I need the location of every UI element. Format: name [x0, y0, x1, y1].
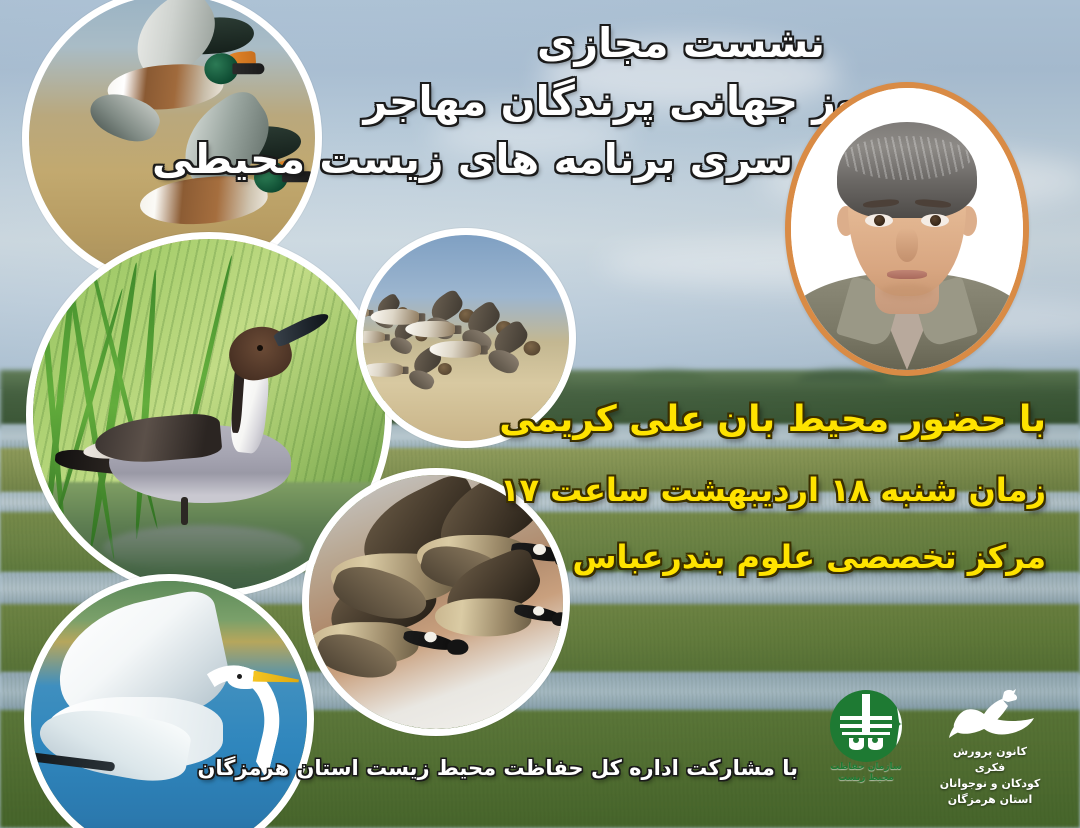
kanoon-logo-caption: کانون پرورش فکری کودکان و نوجوانان استان… [938, 744, 1042, 808]
photo-circle-egret [24, 574, 314, 828]
venue-line: مرکز تخصصی علوم بندرعباس [526, 538, 1046, 576]
kanoon-caption-line-1: کانون پرورش فکری [938, 744, 1042, 776]
leaf-band [840, 724, 892, 728]
doe-logo-caption: سازمان حفاظت محیط زیست [818, 762, 914, 785]
portrait-nose [896, 228, 918, 262]
kanoon-logo: کانون پرورش فکری کودکان و نوجوانان استان… [938, 688, 1042, 792]
kanoon-bird-icon [944, 688, 1036, 744]
portrait-chin [881, 284, 933, 300]
headline-line-1: نشست مجازی [315, 14, 825, 72]
leaf-midrib [862, 694, 870, 734]
kanoon-caption-line-3: استان هرمزگان [938, 792, 1042, 808]
portrait-eye [865, 214, 893, 227]
leaf-band [840, 716, 892, 720]
portrait-eye [921, 214, 949, 227]
water-reflection [103, 525, 303, 571]
doe-emblem-icon [830, 690, 902, 762]
pintail-leg [181, 497, 188, 525]
leaf-vein [895, 724, 902, 758]
event-details-block: با حضور محیط بان علی کریمی زمان شنبه ۱۸ … [526, 398, 1046, 576]
headline-block: نشست مجازی روز جهانی پرندگان مهاجر از سر… [315, 14, 825, 189]
speaker-line: با حضور محیط بان علی کریمی [526, 398, 1046, 441]
portrait-mouth [887, 270, 927, 279]
pintail-eye [257, 345, 263, 351]
kanoon-caption-line-2: کودکان و نوجوانان [938, 776, 1042, 792]
speaker-portrait [785, 82, 1029, 376]
footer-credit: با مشارکت اداره کل حفاظت محیط زیست استان… [197, 756, 798, 780]
egret-eye [237, 674, 242, 679]
leaf-dot [853, 737, 859, 743]
leaf-dot [872, 737, 878, 743]
time-line: زمان شنبه ۱۸ اردیبهشت ساعت ۱۷ [526, 471, 1046, 509]
leaf-band [842, 732, 890, 735]
leaf-vein [895, 690, 902, 724]
duck-bill [232, 63, 264, 74]
headline-line-3: از سری برنامه های زیست محیطی [315, 130, 845, 188]
department-of-environment-logo: سازمان حفاظت محیط زیست [818, 690, 914, 790]
poster-canvas: نشست مجازی روز جهانی پرندگان مهاجر از سر… [0, 0, 1080, 828]
